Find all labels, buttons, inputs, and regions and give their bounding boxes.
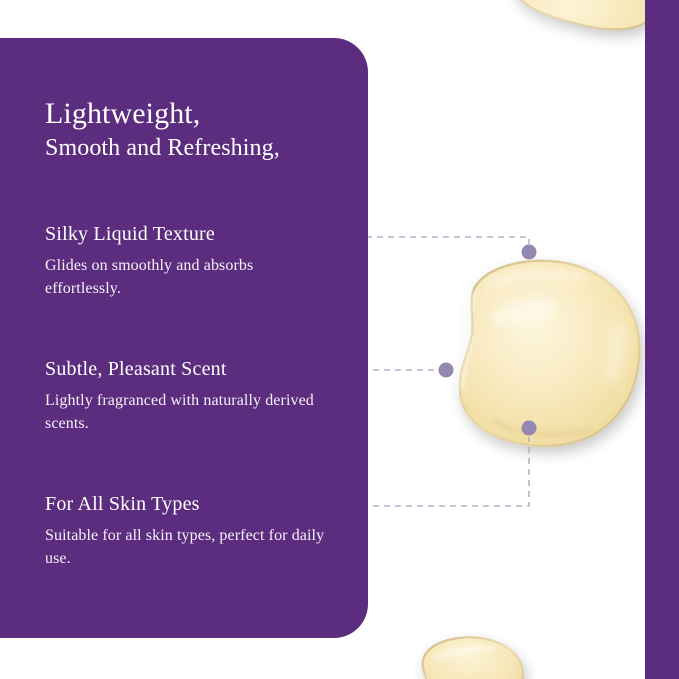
serum-droplet-top — [513, 0, 652, 29]
feature-description: Glides on smoothly and absorbs effortles… — [45, 255, 330, 300]
headline-line-2: Smooth and Refreshing, — [45, 133, 280, 164]
connector-dot-2 — [439, 363, 454, 378]
connector-dot-3 — [522, 421, 537, 436]
serum-droplet-bottom — [423, 637, 523, 679]
serum-droplet-main — [460, 261, 640, 446]
feature-item-for-all-skin-types: For All Skin Types Suitable for all skin… — [45, 492, 345, 570]
feature-title: Subtle, Pleasant Scent — [45, 357, 227, 381]
feature-title: Silky Liquid Texture — [45, 222, 215, 246]
feature-item-silky-liquid-texture: Silky Liquid Texture Glides on smoothly … — [45, 222, 345, 300]
feature-title: For All Skin Types — [45, 492, 200, 516]
connector-dot-1 — [522, 245, 537, 260]
product-feature-graphic: Lightweight, Smooth and Refreshing, Silk… — [0, 0, 679, 679]
feature-card: Lightweight, Smooth and Refreshing, Silk… — [0, 38, 368, 638]
feature-description: Lightly fragranced with naturally derive… — [45, 390, 330, 435]
right-accent-band — [645, 0, 679, 679]
headline-line-1: Lightweight, — [45, 96, 280, 131]
page-title: Lightweight, Smooth and Refreshing, — [45, 96, 280, 164]
feature-description: Suitable for all skin types, perfect for… — [45, 525, 330, 570]
feature-item-subtle-pleasant-scent: Subtle, Pleasant Scent Lightly fragrance… — [45, 357, 345, 435]
